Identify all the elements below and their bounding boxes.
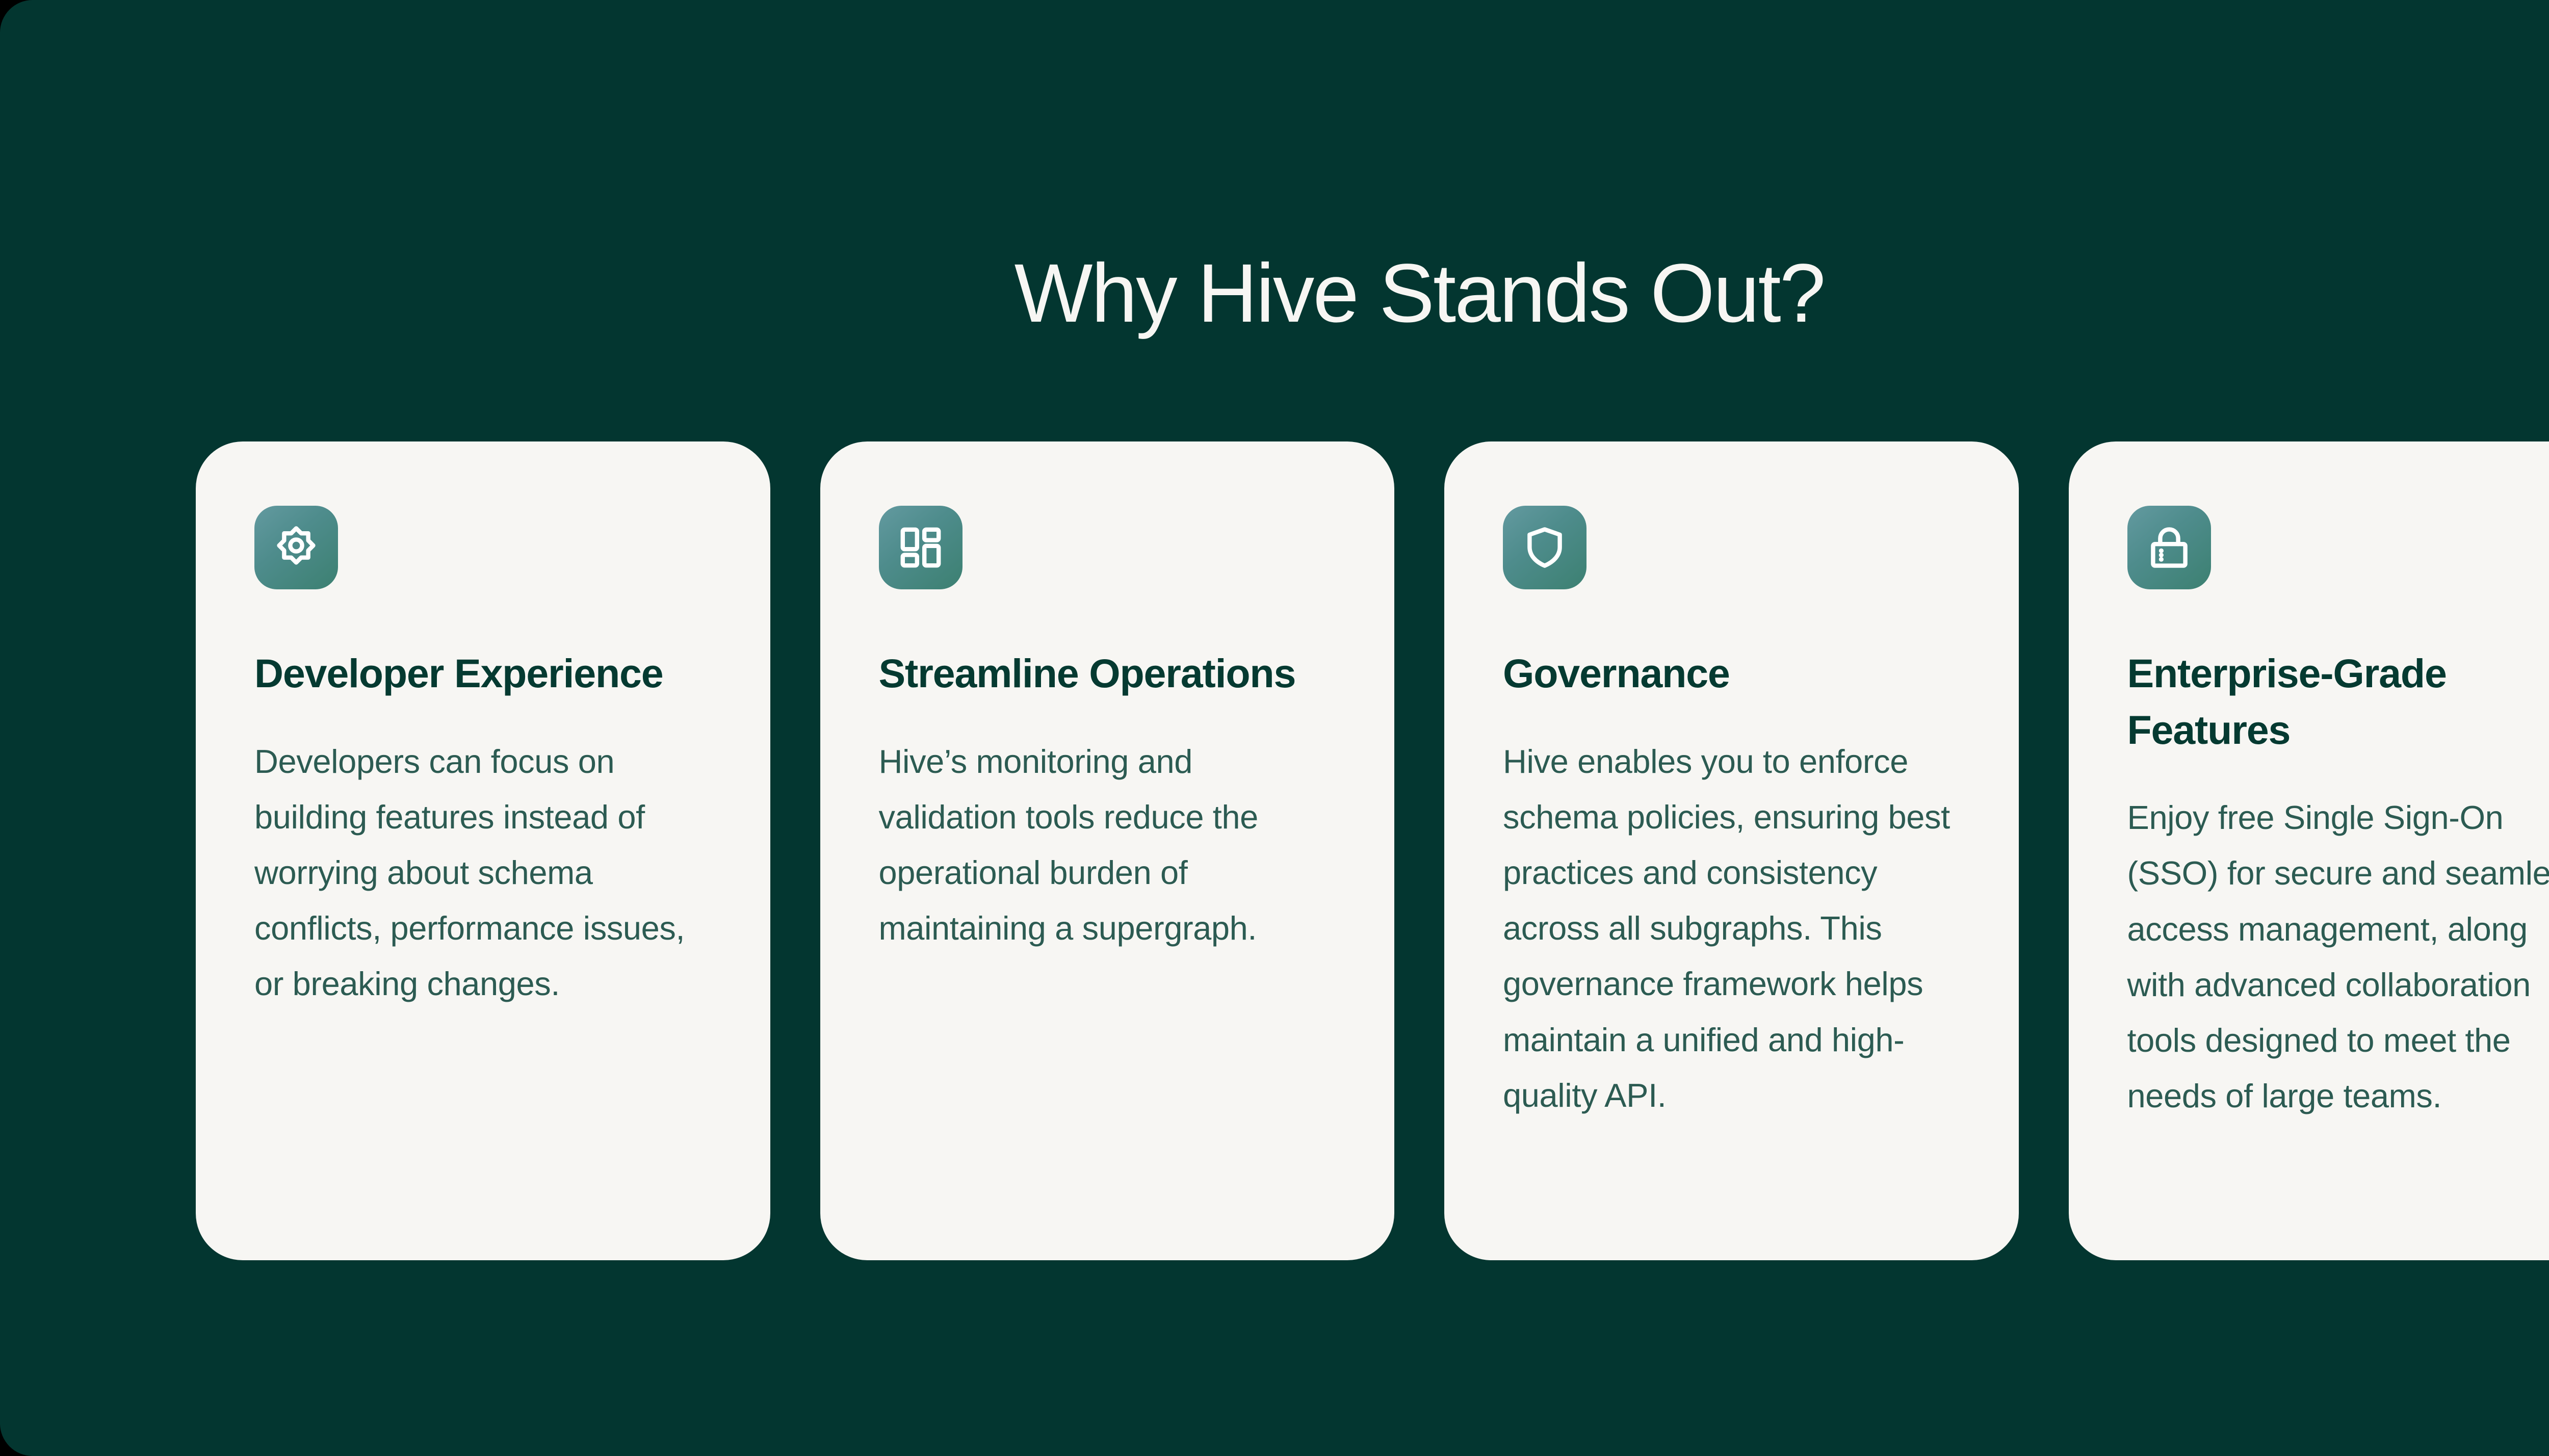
card-body: Hive’s monitoring and validation tools r… (879, 734, 1336, 956)
feature-card-developer-experience[interactable]: Developer Experience Developers can focu… (196, 441, 770, 1260)
layout-dashboard-icon (896, 523, 945, 572)
card-title: Streamline Operations (879, 645, 1296, 702)
card-title: Enterprise-Grade Features (2127, 645, 2549, 758)
icon-tile (1503, 506, 1586, 589)
feature-card-governance[interactable]: Governance Hive enables you to enforce s… (1444, 441, 2019, 1260)
feature-card-list: Developer Experience Developers can focu… (196, 441, 2549, 1260)
card-title: Governance (1503, 645, 1730, 702)
card-body: Developers can focus on building feature… (254, 734, 712, 1012)
card-title: Developer Experience (254, 645, 663, 702)
page-root: Why Hive Stands Out? Developer Experienc… (0, 0, 2549, 1456)
icon-tile (879, 506, 963, 589)
gear-icon (272, 523, 321, 572)
lock-icon (2145, 523, 2194, 572)
shield-icon (1520, 523, 1569, 572)
page-title: Why Hive Stands Out? (0, 248, 2549, 338)
icon-tile (2127, 506, 2211, 589)
feature-card-streamline-operations[interactable]: Streamline Operations Hive’s monitoring … (820, 441, 1395, 1260)
card-body: Hive enables you to enforce schema polic… (1503, 734, 1960, 1123)
feature-card-enterprise-grade-features[interactable]: Enterprise-Grade Features Enjoy free Sin… (2069, 441, 2549, 1260)
card-body: Enjoy free Single Sign-On (SSO) for secu… (2127, 790, 2549, 1124)
icon-tile (254, 506, 338, 589)
